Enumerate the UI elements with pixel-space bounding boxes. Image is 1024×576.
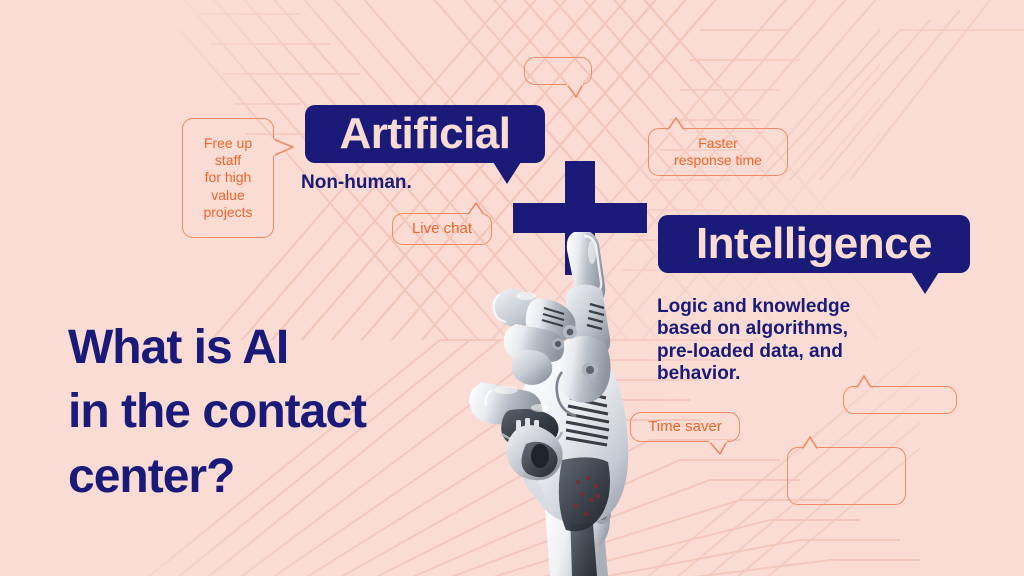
infographic-canvas: Artificial Non-human. Intelligence Logic… xyxy=(0,0,1024,576)
robotic-hand-illustration xyxy=(466,232,631,576)
bubble-time-saver[interactable]: Time saver xyxy=(630,412,740,442)
bubble-live-chat-tail xyxy=(465,201,489,217)
headline-line-1: What is AI xyxy=(68,316,488,380)
bubble-faster-response-label: Faster response time xyxy=(674,135,762,170)
page-title: What is AI in the contact center? xyxy=(68,316,488,509)
bubble-empty-right-bottom[interactable] xyxy=(787,447,906,505)
bubble-free-up-staff-label: Free up staff for high value projects xyxy=(203,135,252,222)
badge-artificial-label: Artificial xyxy=(339,112,510,156)
caption-intelligence: Logic and knowledge based on algorithms,… xyxy=(657,296,850,386)
bubble-free-up-staff[interactable]: Free up staff for high value projects xyxy=(182,118,274,238)
badge-artificial: Artificial xyxy=(305,105,545,163)
bubble-empty-right-top-tail xyxy=(854,374,876,390)
bubble-time-saver-label: Time saver xyxy=(648,418,722,437)
badge-intelligence-tail xyxy=(911,272,939,294)
bubble-empty-top-tail xyxy=(565,83,587,99)
headline-line-3: center? xyxy=(68,445,488,509)
bubble-live-chat-label: Live chat xyxy=(412,220,472,239)
headline-line-2: in the contact xyxy=(68,380,488,444)
bubble-empty-right-bottom-tail xyxy=(800,435,822,451)
bubble-empty-top[interactable] xyxy=(524,57,592,85)
badge-intelligence: Intelligence xyxy=(658,215,970,273)
bubble-faster-response[interactable]: Faster response time xyxy=(648,128,788,176)
caption-artificial: Non-human. xyxy=(301,172,412,194)
bubble-empty-right-top[interactable] xyxy=(843,386,957,414)
bubble-time-saver-tail xyxy=(707,440,731,456)
badge-intelligence-label: Intelligence xyxy=(696,222,932,266)
bubble-free-up-staff-tail xyxy=(273,137,295,161)
bubble-faster-response-tail xyxy=(665,116,689,132)
bubble-live-chat[interactable]: Live chat xyxy=(392,213,492,245)
